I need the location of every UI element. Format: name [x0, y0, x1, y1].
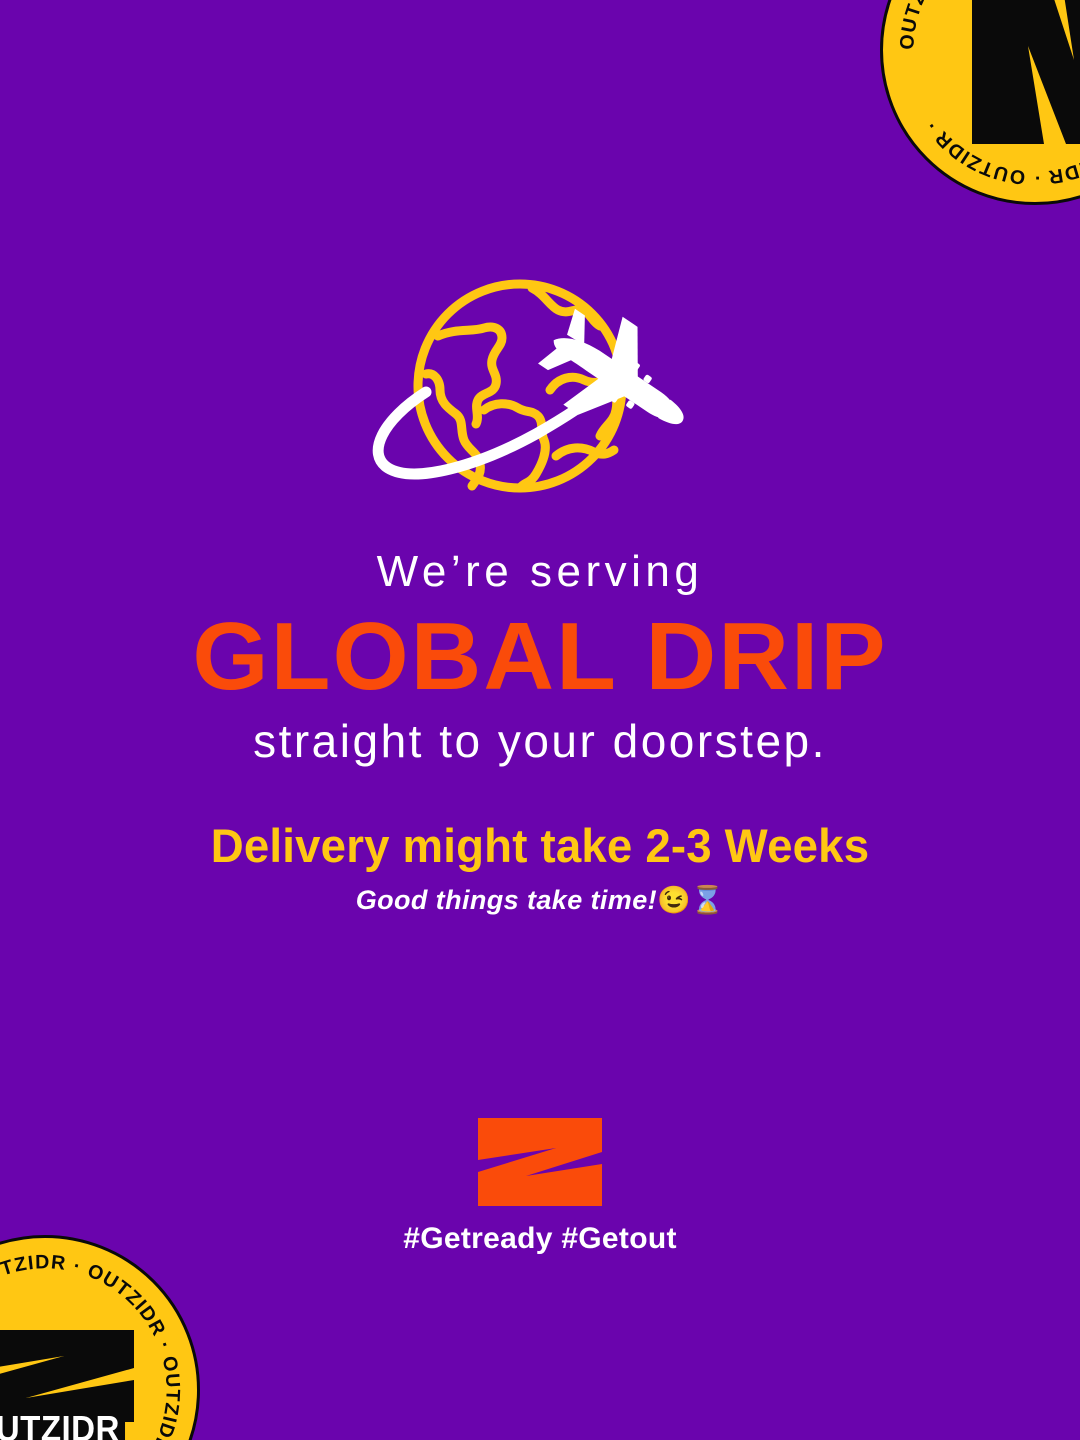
outzidr-seal-bottom-left: OUTZIDR · OUTZIDR · OUTZIDR · OUTZIDR · …	[0, 1235, 200, 1440]
seal-center-mark-bottom-left: OUTZIDR	[0, 1328, 138, 1440]
reassurance-line: Good things take time!😉⌛	[0, 884, 1080, 916]
footer-brand-block: #Getready #Getout	[0, 1118, 1080, 1256]
eyebrow-text: We’re serving	[0, 548, 1080, 596]
outzidr-seal-top-right: OUTZIDR · OUTZIDR · OUTZIDR · OUTZIDR · …	[880, 0, 1080, 205]
headline-text: GLOBAL DRIP	[0, 608, 1080, 706]
headline-copy-block: We’re serving GLOBAL DRIP straight to yo…	[0, 548, 1080, 767]
outzidr-z-logo	[476, 1118, 604, 1206]
delivery-notice-block: Delivery might take 2-3 Weeks Good thing…	[0, 820, 1080, 916]
reassurance-text: Good things take time!	[356, 885, 657, 915]
globe-with-airplane-icon	[360, 268, 720, 518]
hourglass-emoji: ⌛	[691, 885, 725, 915]
delivery-time-text: Delivery might take 2-3 Weeks	[16, 820, 1064, 872]
hashtags-text: #Getready #Getout	[0, 1222, 1080, 1256]
promo-poster: OUTZIDR · OUTZIDR · OUTZIDR · OUTZIDR · …	[0, 0, 1080, 1440]
subline-text: straight to your doorstep.	[0, 716, 1080, 767]
seal-center-z-glyph-top-right	[935, 0, 1080, 155]
seal-wordmark-bottom-left: OUTZIDR	[0, 1408, 126, 1440]
winking-face-emoji: 😉	[657, 885, 691, 915]
